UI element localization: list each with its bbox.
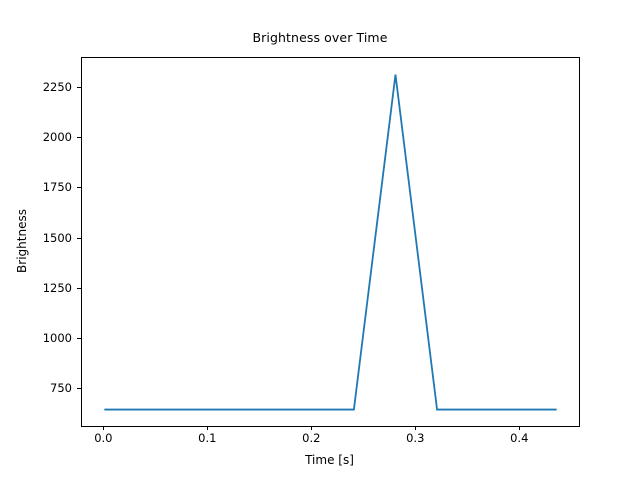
y-tick-label: 2000 [43, 130, 72, 144]
chart-title: Brightness over Time [0, 30, 640, 45]
y-tick-mark [77, 238, 81, 239]
y-tick-mark [77, 288, 81, 289]
y-tick-mark [77, 87, 81, 88]
x-tick-mark [311, 426, 312, 430]
x-tick-mark [207, 426, 208, 430]
x-tick-label: 0.1 [198, 431, 216, 445]
y-axis-label: Brightness [14, 57, 30, 425]
y-tick-mark [77, 388, 81, 389]
y-tick-mark [77, 338, 81, 339]
x-tick-label: 0.3 [406, 431, 424, 445]
x-tick-label: 0.4 [510, 431, 528, 445]
y-tick-mark [77, 137, 81, 138]
y-tick-label: 750 [50, 381, 72, 395]
brightness-line-series [104, 75, 556, 410]
x-tick-label: 0.2 [302, 431, 320, 445]
x-tick-label: 0.0 [94, 431, 112, 445]
plot-axes [81, 57, 580, 427]
x-tick-mark [103, 426, 104, 430]
x-tick-mark [519, 426, 520, 430]
y-tick-label: 2250 [43, 80, 72, 94]
line-plot-svg [82, 58, 579, 426]
y-tick-label: 1250 [43, 281, 72, 295]
y-tick-label: 1750 [43, 180, 72, 194]
y-tick-label: 1500 [43, 231, 72, 245]
x-tick-mark [415, 426, 416, 430]
x-axis-label: Time [s] [81, 453, 578, 467]
y-tick-label: 1000 [43, 331, 72, 345]
y-tick-mark [77, 187, 81, 188]
figure-canvas: Brightness over Time 0.00.10.20.30.4 750… [0, 0, 640, 480]
